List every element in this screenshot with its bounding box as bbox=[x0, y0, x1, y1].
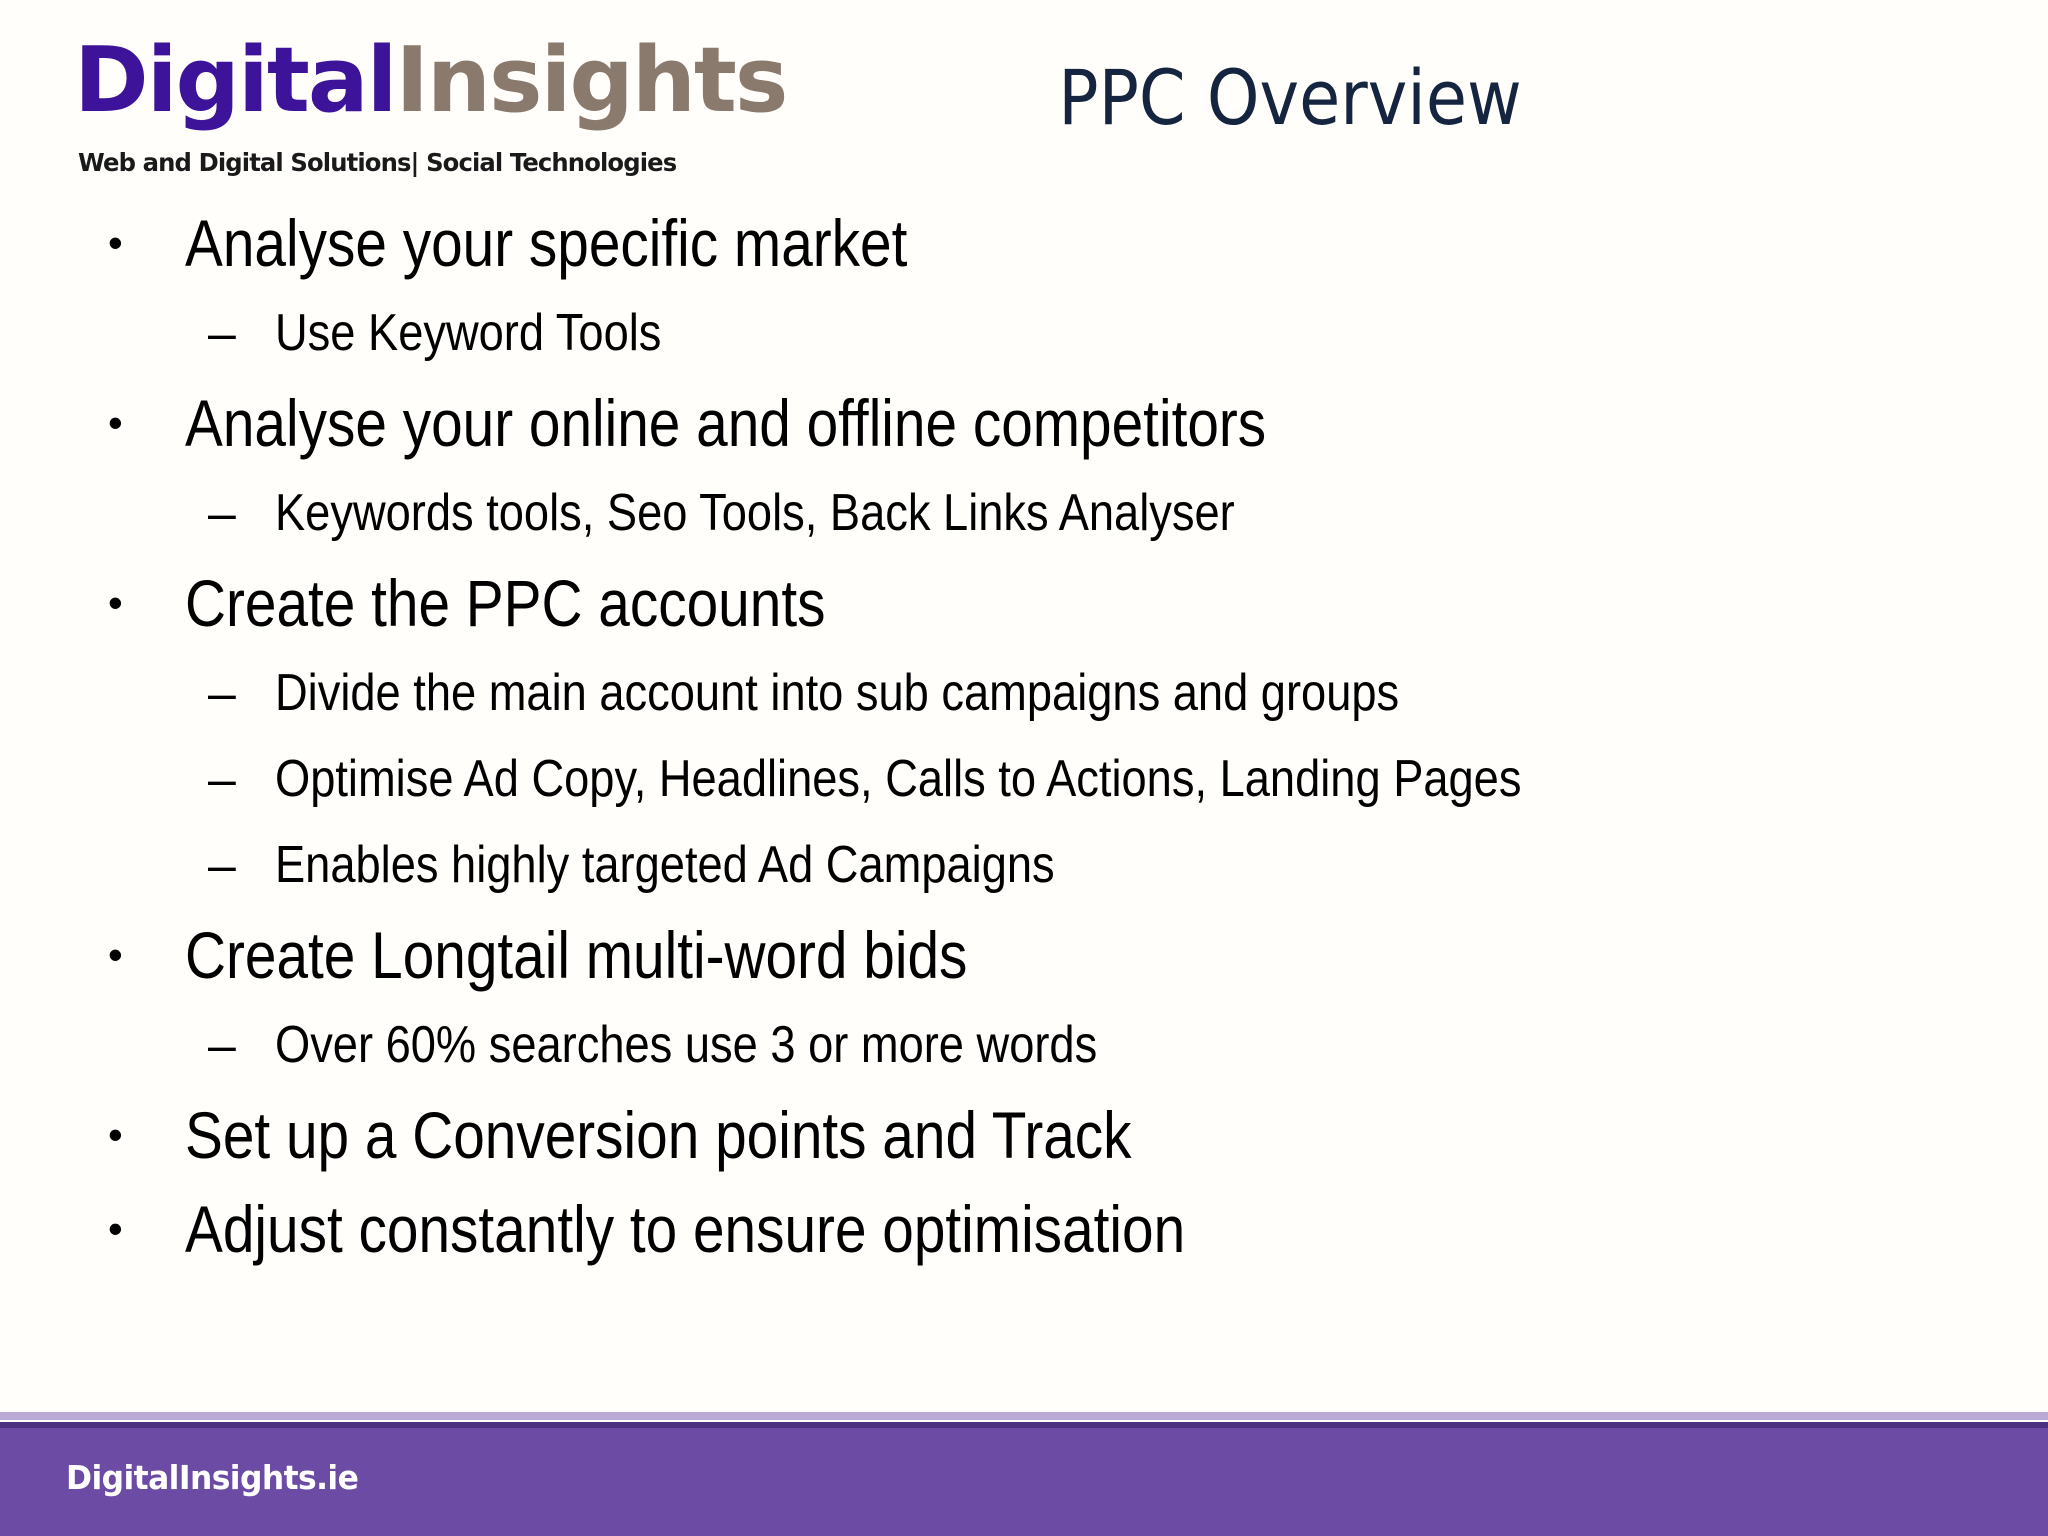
slide-title: PPC Overview bbox=[1017, 58, 1563, 138]
bullet-dash-icon: – bbox=[208, 822, 236, 908]
bullet-dot-icon: • bbox=[108, 196, 123, 290]
bullet-dash-icon: – bbox=[208, 470, 236, 556]
bullet-text: Create Longtail multi-word bids bbox=[185, 908, 967, 1002]
footer-accent-light bbox=[0, 1412, 2048, 1420]
brand-logo: DigitalInsights Web and Digital Solution… bbox=[70, 22, 770, 177]
bullet-text: Enables highly targeted Ad Campaigns bbox=[275, 822, 1055, 908]
slide-body-bullet-list: •Analyse your specific market–Use Keywor… bbox=[0, 196, 2048, 1276]
bullet-dash-icon: – bbox=[208, 736, 236, 822]
bullet-item: •Adjust constantly to ensure optimisatio… bbox=[0, 1182, 2048, 1276]
footer-website-label: DigitalInsights.ie bbox=[66, 1458, 358, 1497]
logo-tagline: Web and Digital Solutions| Social Techno… bbox=[78, 148, 676, 177]
sub-bullet-item: –Keywords tools, Seo Tools, Back Links A… bbox=[0, 470, 2048, 556]
bullet-text: Divide the main account into sub campaig… bbox=[275, 650, 1399, 736]
bullet-dash-icon: – bbox=[208, 290, 236, 376]
bullet-text: Keywords tools, Seo Tools, Back Links An… bbox=[275, 470, 1235, 556]
bullet-dot-icon: • bbox=[108, 908, 123, 1002]
sub-bullet-item: –Over 60% searches use 3 or more words bbox=[0, 1002, 2048, 1088]
bullet-item: •Analyse your specific market bbox=[0, 196, 2048, 290]
bullet-dot-icon: • bbox=[108, 1182, 123, 1276]
bullet-item: •Create the PPC accounts bbox=[0, 556, 2048, 650]
bullet-text: Optimise Ad Copy, Headlines, Calls to Ac… bbox=[275, 736, 1521, 822]
bullet-text: Over 60% searches use 3 or more words bbox=[275, 1002, 1097, 1088]
presentation-slide: DigitalInsights Web and Digital Solution… bbox=[0, 0, 2048, 1536]
sub-bullet-item: –Divide the main account into sub campai… bbox=[0, 650, 2048, 736]
sub-bullet-item: –Enables highly targeted Ad Campaigns bbox=[0, 822, 2048, 908]
sub-bullet-item: –Use Keyword Tools bbox=[0, 290, 2048, 376]
bullet-text: Adjust constantly to ensure optimisation bbox=[185, 1182, 1185, 1276]
bullet-dash-icon: – bbox=[208, 1002, 236, 1088]
bullet-text: Create the PPC accounts bbox=[185, 556, 825, 650]
bullet-text: Set up a Conversion points and Track bbox=[185, 1088, 1132, 1182]
bullet-item: •Analyse your online and offline competi… bbox=[0, 376, 2048, 470]
logo-wordmark: DigitalInsights bbox=[74, 36, 787, 126]
bullet-text: Use Keyword Tools bbox=[275, 290, 661, 376]
bullet-item: •Create Longtail multi-word bids bbox=[0, 908, 2048, 1002]
footer-bar: DigitalInsights.ie bbox=[0, 1428, 2048, 1536]
bullet-dot-icon: • bbox=[108, 1088, 123, 1182]
bullet-dash-icon: – bbox=[208, 650, 236, 736]
bullet-text: Analyse your online and offline competit… bbox=[185, 376, 1266, 470]
sub-bullet-item: –Optimise Ad Copy, Headlines, Calls to A… bbox=[0, 736, 2048, 822]
bullet-dot-icon: • bbox=[108, 556, 123, 650]
bullet-item: •Set up a Conversion points and Track bbox=[0, 1088, 2048, 1182]
bullet-dot-icon: • bbox=[108, 376, 123, 470]
logo-word-insights: Insights bbox=[395, 28, 786, 133]
bullet-text: Analyse your specific market bbox=[185, 196, 907, 290]
logo-word-digital: Digital bbox=[74, 28, 395, 133]
